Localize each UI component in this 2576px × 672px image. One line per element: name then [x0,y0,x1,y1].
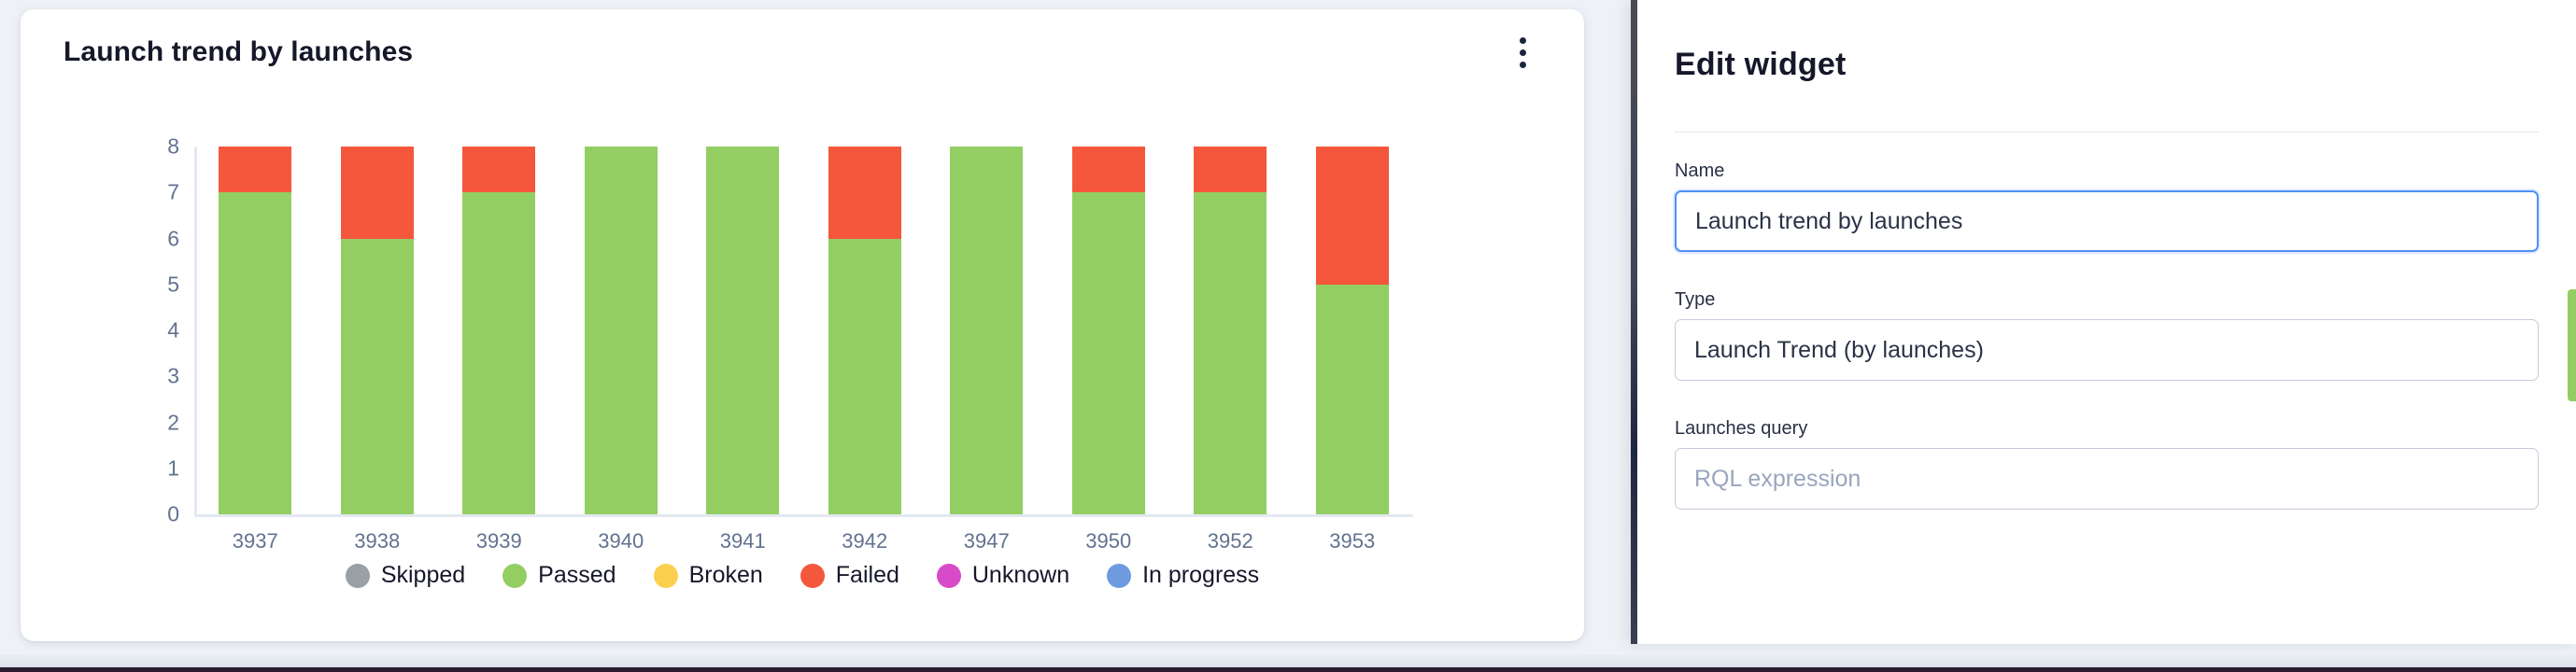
field-launches-query-label: Launches query [1675,418,2539,440]
bar-group: 3950 [1048,147,1170,514]
bar-group: 3937 [194,147,317,514]
panel-heading: Edit widget [1675,47,2539,83]
x-axis-tick: 3947 [964,529,1010,553]
launches-query-input[interactable]: RQL expression [1675,448,2539,510]
legend-color-dot [346,564,370,588]
x-axis-tick: 3950 [1085,529,1131,553]
bar-stack[interactable] [1194,147,1267,514]
bar-stack[interactable] [219,147,291,514]
chart-plot: 876543210 393739383939394039413942394739… [194,147,1413,514]
bar-group: 3942 [804,147,927,514]
legend-label: Unknown [972,562,1069,589]
x-axis-tick: 3942 [842,529,887,553]
edge-accent-bar [2568,289,2576,401]
bar-stack[interactable] [462,147,535,514]
bar-segment-passed[interactable] [828,239,901,515]
bar-stack[interactable] [1072,147,1145,514]
y-axis-tick: 3 [167,364,179,389]
bottom-chrome-dark-strip [0,667,2576,672]
field-name: Name Launch trend by launches [1675,161,2539,252]
bar-segment-failed[interactable] [219,147,291,192]
legend-item-failed[interactable]: Failed [800,562,899,589]
edit-widget-panel: Edit widget Name Launch trend by launche… [1631,0,2576,644]
y-axis-tick: 1 [167,455,179,481]
x-axis-tick: 3937 [233,529,278,553]
bar-segment-passed[interactable] [219,192,291,514]
y-axis-tick: 2 [167,410,179,435]
bar-segment-failed[interactable] [1316,147,1389,285]
field-type-label: Type [1675,289,2539,311]
legend-color-dot [502,564,527,588]
edit-widget-panel-body: Edit widget Name Launch trend by launche… [1637,0,2576,644]
bar-segment-failed[interactable] [462,147,535,192]
type-select[interactable]: Launch Trend (by launches) [1675,319,2539,381]
bar-segment-failed[interactable] [341,147,414,239]
bar-segment-failed[interactable] [828,147,901,239]
name-input[interactable]: Launch trend by launches [1675,190,2539,252]
bar-group: 3953 [1292,147,1414,514]
legend-label: Passed [538,562,616,589]
bar-stack[interactable] [585,147,658,514]
widget-card: Launch trend by launches 876543210 39373… [21,9,1584,641]
bar-group: 3940 [560,147,683,514]
chart-area: 876543210 393739383939394039413942394739… [21,95,1584,562]
screen-root: Launch trend by launches 876543210 39373… [0,0,2576,672]
legend-color-dot [654,564,678,588]
kebab-dot [1520,62,1526,68]
bar-stack[interactable] [950,147,1023,514]
bar-segment-passed[interactable] [706,147,779,514]
y-axis-tick: 0 [167,502,179,527]
field-name-label: Name [1675,161,2539,182]
x-axis-tick: 3941 [720,529,766,553]
kebab-dot [1520,49,1526,56]
bar-segment-passed[interactable] [1194,192,1267,514]
chart-legend: SkippedPassedBrokenFailedUnknownIn progr… [21,562,1584,589]
y-axis-tick: 4 [167,318,179,343]
x-axis-tick: 3952 [1208,529,1253,553]
panel-resize-handle[interactable] [1631,0,1637,644]
bar-group: 3952 [1169,147,1292,514]
widget-title: Launch trend by launches [64,36,413,68]
y-axis-tick: 6 [167,226,179,251]
bar-stack[interactable] [706,147,779,514]
field-launches-query: Launches query RQL expression [1675,418,2539,510]
legend-color-dot [937,564,961,588]
y-axis-tick: 5 [167,272,179,297]
legend-item-unknown[interactable]: Unknown [937,562,1069,589]
x-axis-tick: 3938 [354,529,400,553]
bar-segment-passed[interactable] [950,147,1023,514]
x-axis-line [194,514,1413,517]
panel-divider [1675,132,2539,133]
bar-segment-passed[interactable] [341,239,414,515]
legend-label: Failed [836,562,899,589]
legend-label: Skipped [381,562,465,589]
legend-label: Broken [689,562,763,589]
bar-stack[interactable] [1316,147,1389,514]
bar-group: 3941 [682,147,804,514]
bar-segment-passed[interactable] [585,147,658,514]
x-axis-tick: 3940 [598,529,644,553]
chart-bars: 3937393839393940394139423947395039523953 [194,147,1413,514]
kebab-menu-icon[interactable] [1502,30,1543,75]
legend-item-in-progress[interactable]: In progress [1107,562,1259,589]
kebab-dot [1520,37,1526,44]
x-axis-tick: 3939 [476,529,522,553]
x-axis-tick: 3953 [1329,529,1375,553]
bar-segment-failed[interactable] [1194,147,1267,192]
y-axis-tick: 7 [167,180,179,205]
bar-group: 3939 [438,147,560,514]
bar-segment-passed[interactable] [462,192,535,514]
bar-stack[interactable] [341,147,414,514]
legend-item-passed[interactable]: Passed [502,562,616,589]
widget-card-header: Launch trend by launches [21,9,1584,95]
bar-stack[interactable] [828,147,901,514]
bar-segment-passed[interactable] [1316,285,1389,514]
y-axis-tick: 8 [167,134,179,160]
bar-segment-passed[interactable] [1072,192,1145,514]
bar-segment-failed[interactable] [1072,147,1145,192]
legend-label: In progress [1142,562,1259,589]
bar-group: 3947 [926,147,1048,514]
bar-group: 3938 [317,147,439,514]
legend-item-skipped[interactable]: Skipped [346,562,465,589]
field-type: Type Launch Trend (by launches) [1675,289,2539,381]
legend-item-broken[interactable]: Broken [654,562,763,589]
legend-color-dot [1107,564,1131,588]
legend-color-dot [800,564,825,588]
